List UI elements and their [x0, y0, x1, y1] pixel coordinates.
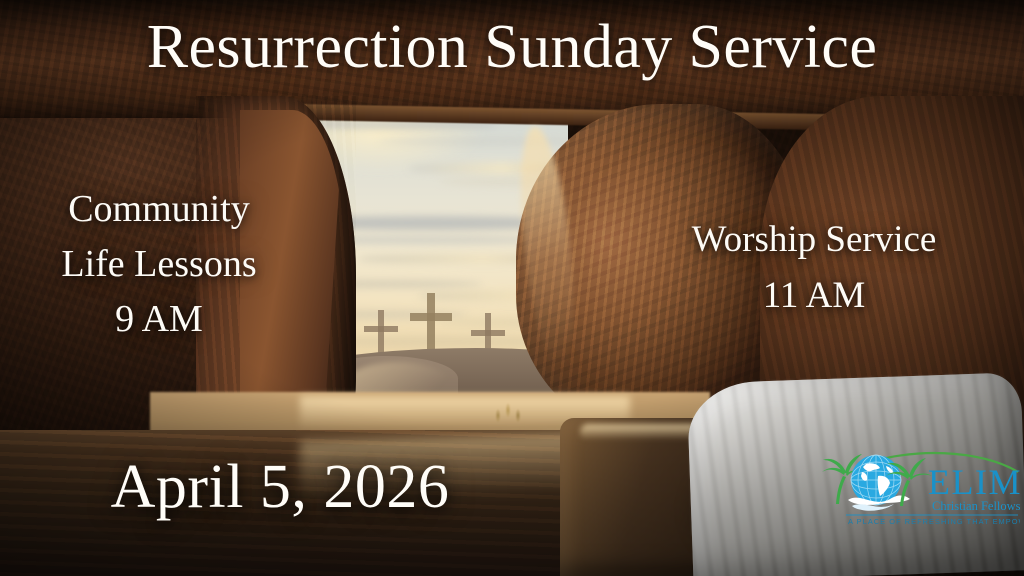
- logo-tagline: A PLACE OF REFRESHING THAT EMPOWERS YOU: [848, 517, 1020, 526]
- community-life-lessons-block: Community Life Lessons 9 AM: [14, 182, 304, 347]
- dry-bush: [490, 400, 530, 426]
- right-line-1: Worship Service: [620, 212, 1008, 268]
- right-line-2: 11 AM: [620, 268, 1008, 324]
- service-date: April 5, 2026: [60, 456, 500, 518]
- elim-christian-fellowship-logo: ELIM Christian Fellowship A PLACE OF REF…: [822, 442, 1020, 538]
- left-line-2: Life Lessons: [14, 237, 304, 292]
- logo-svg: ELIM Christian Fellowship A PLACE OF REF…: [822, 442, 1020, 538]
- cross-icon: [364, 326, 398, 332]
- resurrection-sunday-poster: Resurrection Sunday Service Community Li…: [0, 0, 1024, 576]
- cross-icon: [471, 330, 505, 336]
- cross-icon: [410, 313, 452, 321]
- worship-service-block: Worship Service 11 AM: [620, 212, 1008, 323]
- left-line-1: Community: [14, 182, 304, 237]
- logo-subtitle: Christian Fellowship: [932, 499, 1020, 513]
- page-title: Resurrection Sunday Service: [0, 14, 1024, 81]
- left-line-3: 9 AM: [14, 292, 304, 347]
- logo-name: ELIM: [928, 462, 1020, 502]
